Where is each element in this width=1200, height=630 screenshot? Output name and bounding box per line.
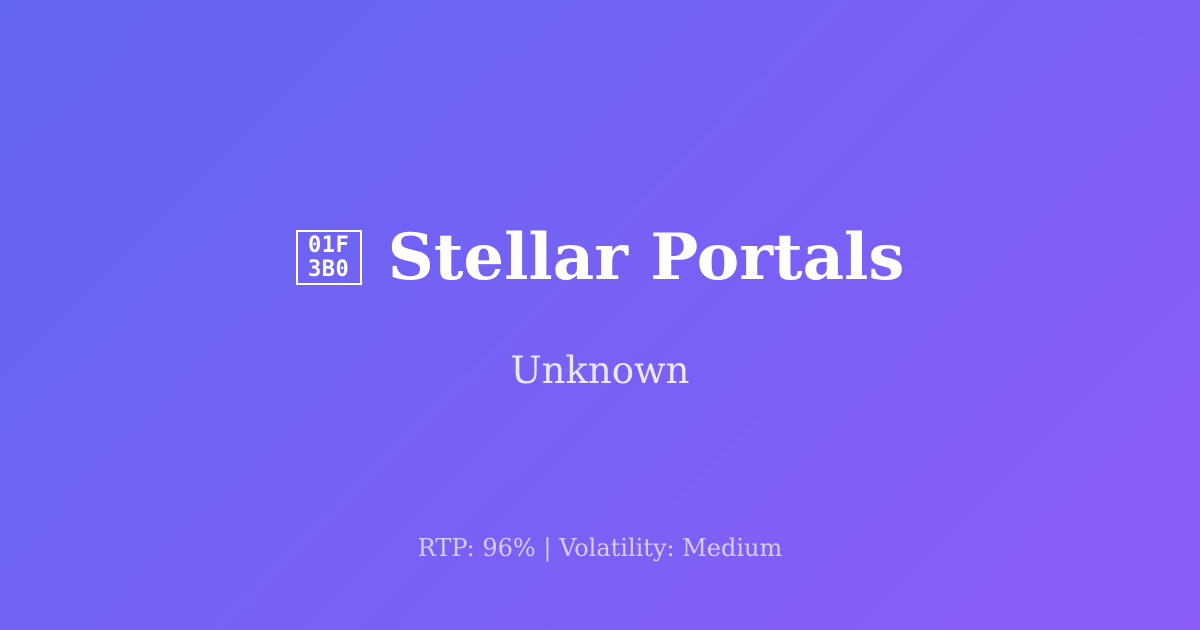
title-row: 01F 3B0 Stellar Portals (296, 224, 905, 291)
page-title: Stellar Portals (388, 224, 905, 291)
subtitle: Unknown (510, 349, 689, 393)
footer: RTP: 96% | Volatility: Medium (0, 534, 1200, 563)
game-meta-text: RTP: 96% | Volatility: Medium (0, 534, 1200, 563)
og-preview-card: 01F 3B0 Stellar Portals Unknown RTP: 96%… (0, 0, 1200, 630)
slot-machine-emoji-tofu-icon: 01F 3B0 (296, 230, 362, 285)
tofu-codepoint-lower: 3B0 (308, 258, 349, 282)
tofu-codepoint-upper: 01F (308, 234, 349, 258)
